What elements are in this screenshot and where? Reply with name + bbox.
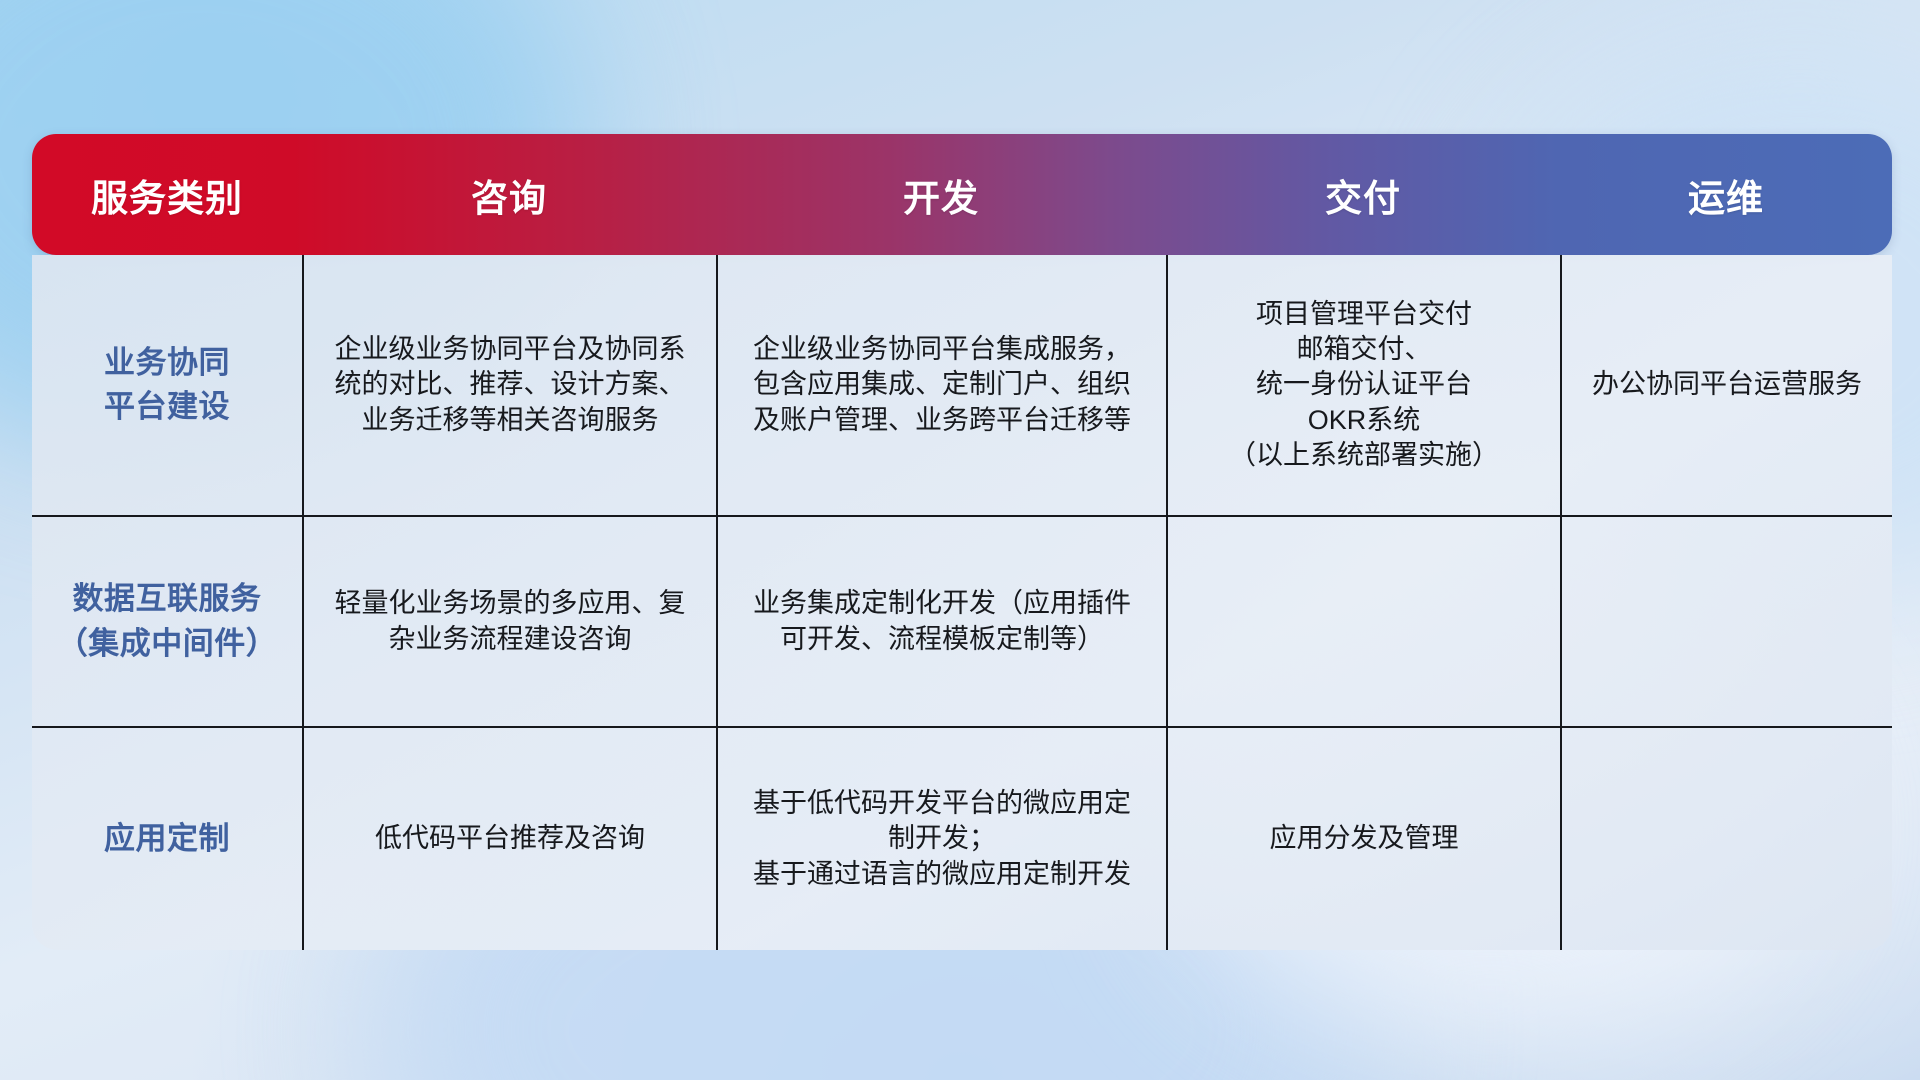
cell-development: 基于低代码开发平台的微应用定 制开发； 基于通过语言的微应用定制开发 <box>716 728 1166 950</box>
cell-delivery: 项目管理平台交付 邮箱交付、 统一身份认证平台 OKR系统 （以上系统部署实施） <box>1166 255 1560 515</box>
column-header-consulting-label: 咨询 <box>471 168 547 222</box>
table-row: 业务协同 平台建设 企业级业务协同平台及协同系 统的对比、推荐、设计方案、 业务… <box>32 255 1892 517</box>
column-header-operations-label: 运维 <box>1688 168 1764 222</box>
column-header-operations: 运维 <box>1560 134 1892 255</box>
column-header-category-label: 服务类别 <box>91 168 243 222</box>
cell-consulting: 企业级业务协同平台及协同系 统的对比、推荐、设计方案、 业务迁移等相关咨询服务 <box>302 255 716 515</box>
cell-operations <box>1560 728 1892 950</box>
column-header-development-label: 开发 <box>903 168 979 222</box>
cell-development: 业务集成定制化开发（应用插件 可开发、流程模板定制等） <box>716 517 1166 726</box>
table-body: 业务协同 平台建设 企业级业务协同平台及协同系 统的对比、推荐、设计方案、 业务… <box>32 255 1892 950</box>
table-header-row: 服务类别 咨询 开发 交付 运维 <box>32 134 1892 255</box>
cell-development: 企业级业务协同平台集成服务， 包含应用集成、定制门户、组织 及账户管理、业务跨平… <box>716 255 1166 515</box>
column-header-delivery: 交付 <box>1166 134 1560 255</box>
cell-consulting: 低代码平台推荐及咨询 <box>302 728 716 950</box>
service-matrix-table: 服务类别 咨询 开发 交付 运维 业务协同 平台建设 企业级业务协同平台及协同系… <box>32 134 1892 950</box>
row-category-cell: 应用定制 <box>32 728 302 950</box>
column-header-category: 服务类别 <box>32 134 302 255</box>
column-header-consulting: 咨询 <box>302 134 716 255</box>
row-category-cell: 业务协同 平台建设 <box>32 255 302 515</box>
slide-canvas: 服务类别 咨询 开发 交付 运维 业务协同 平台建设 企业级业务协同平台及协同系… <box>0 0 1920 1080</box>
cell-delivery: 应用分发及管理 <box>1166 728 1560 950</box>
cell-delivery <box>1166 517 1560 726</box>
table-row: 数据互联服务 （集成中间件） 轻量化业务场景的多应用、复 杂业务流程建设咨询 业… <box>32 517 1892 728</box>
cell-operations: 办公协同平台运营服务 <box>1560 255 1892 515</box>
table-row: 应用定制 低代码平台推荐及咨询 基于低代码开发平台的微应用定 制开发； 基于通过… <box>32 728 1892 950</box>
cell-consulting: 轻量化业务场景的多应用、复 杂业务流程建设咨询 <box>302 517 716 726</box>
column-header-delivery-label: 交付 <box>1325 168 1401 222</box>
row-category-cell: 数据互联服务 （集成中间件） <box>32 517 302 726</box>
column-header-development: 开发 <box>716 134 1166 255</box>
cell-operations <box>1560 517 1892 726</box>
